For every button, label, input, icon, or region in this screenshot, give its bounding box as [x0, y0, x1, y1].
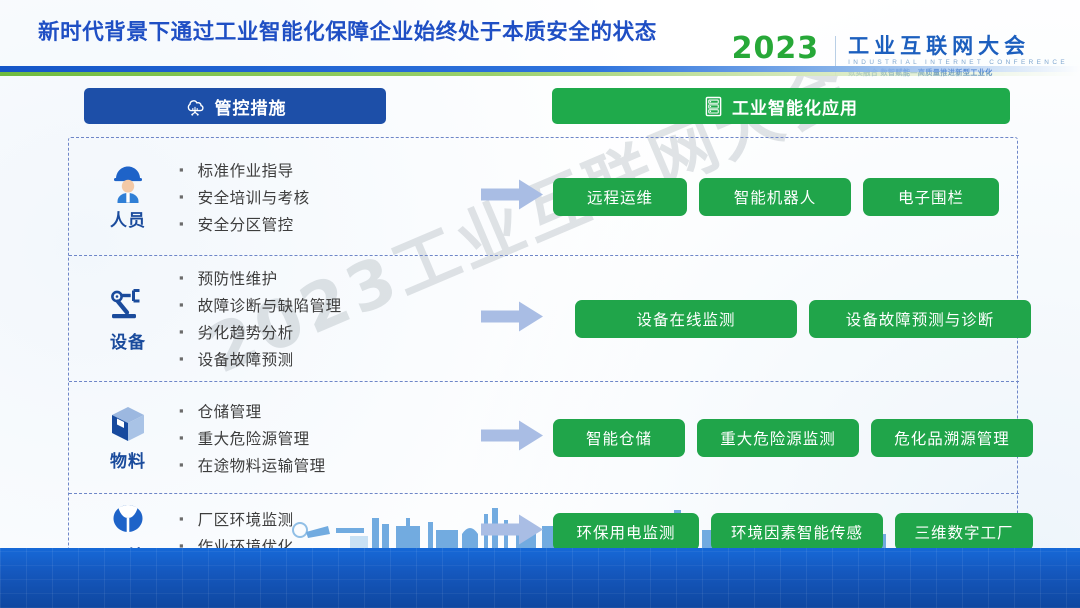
column-header-control-measures[interactable]: 管控措施 [84, 88, 386, 124]
box-package-icon [105, 403, 151, 445]
bullet-dot-icon: ▪ [179, 190, 184, 203]
bullet-dot-icon: ▪ [179, 271, 184, 284]
list-item: ▪故障诊断与缺陷管理 [179, 294, 342, 316]
category-cell-equipment: 设备 [87, 256, 169, 381]
bullet-text: 重大危险源管理 [198, 427, 310, 449]
list-item: ▪标准作业指导 [179, 159, 310, 181]
tag-group-personnel: 远程运维 智能机器人 电子围栏 [553, 178, 999, 216]
category-cell-personnel: 人员 [87, 138, 169, 255]
logo-year: 2023 [732, 34, 820, 64]
table-row: 人员 ▪标准作业指导 ▪安全培训与考核 ▪安全分区管控 远程运维 智能机器人 电… [69, 138, 1019, 256]
list-item: ▪在途物料运输管理 [179, 454, 326, 476]
bullet-list-material: ▪仓储管理 ▪重大危险源管理 ▪在途物料运输管理 [179, 382, 326, 493]
bullet-text: 设备故障预测 [198, 348, 294, 370]
tag-group-equipment: 设备在线监测 设备故障预测与诊断 [575, 300, 1031, 338]
list-item: ▪重大危险源管理 [179, 427, 326, 449]
bottom-blue-band [0, 548, 1080, 608]
tag-button[interactable]: 设备故障预测与诊断 [809, 300, 1031, 338]
bullet-dot-icon: ▪ [179, 512, 184, 525]
table-row: 设备 ▪预防性维护 ▪故障诊断与缺陷管理 ▪劣化趋势分析 ▪设备故障预测 设备在… [69, 256, 1019, 382]
worker-helmet-icon [105, 162, 151, 204]
tag-button[interactable]: 智能机器人 [699, 178, 851, 216]
category-label: 物料 [110, 447, 146, 472]
tag-button[interactable]: 远程运维 [553, 178, 687, 216]
bullet-text: 故障诊断与缺陷管理 [198, 294, 342, 316]
bullet-dot-icon: ▪ [179, 404, 184, 417]
tag-button[interactable]: 危化品溯源管理 [871, 419, 1033, 457]
tag-group-environment: 环保用电监测 环境因素智能传感 三维数字工厂 [553, 513, 1033, 551]
list-item: ▪安全分区管控 [179, 213, 310, 235]
list-item: ▪厂区环境监测 [179, 508, 294, 530]
bullet-text: 在途物料运输管理 [198, 454, 326, 476]
logo-title-en: INDUSTRIAL INTERNET CONFERENCE [848, 59, 1068, 66]
robot-arm-icon [105, 284, 151, 326]
capability-matrix: 人员 ▪标准作业指导 ▪安全培训与考核 ▪安全分区管控 远程运维 智能机器人 电… [68, 137, 1018, 569]
column-header-industrial-intelligence[interactable]: 工业智能化应用 [552, 88, 1010, 124]
leaf-shield-icon [105, 498, 151, 540]
bullet-dot-icon: ▪ [179, 217, 184, 230]
bullet-dot-icon: ▪ [179, 431, 184, 444]
tag-group-material: 智能仓储 重大危险源监测 危化品溯源管理 [553, 419, 1033, 457]
bullet-dot-icon: ▪ [179, 298, 184, 311]
bullet-dot-icon: ▪ [179, 325, 184, 338]
tag-button[interactable]: 环境因素智能传感 [711, 513, 883, 551]
list-item: ▪设备故障预测 [179, 348, 342, 370]
bullet-text: 预防性维护 [198, 267, 278, 289]
bullet-dot-icon: ▪ [179, 163, 184, 176]
cloud-circuit-icon [184, 96, 206, 116]
column-header-left-label: 管控措施 [215, 94, 287, 119]
server-rack-icon [704, 96, 723, 117]
bullet-list-equipment: ▪预防性维护 ▪故障诊断与缺陷管理 ▪劣化趋势分析 ▪设备故障预测 [179, 256, 342, 381]
bullet-list-personnel: ▪标准作业指导 ▪安全培训与考核 ▪安全分区管控 [179, 138, 310, 255]
bullet-dot-icon: ▪ [179, 458, 184, 471]
bullet-text: 标准作业指导 [198, 159, 294, 181]
list-item: ▪劣化趋势分析 [179, 321, 342, 343]
list-item: ▪仓储管理 [179, 400, 326, 422]
category-label: 人员 [110, 206, 146, 231]
tag-button[interactable]: 环保用电监测 [553, 513, 699, 551]
bullet-text: 安全培训与考核 [198, 186, 310, 208]
right-arrow-icon [481, 513, 543, 552]
bullet-text: 安全分区管控 [198, 213, 294, 235]
tag-button[interactable]: 设备在线监测 [575, 300, 797, 338]
bullet-dot-icon: ▪ [179, 352, 184, 365]
table-row: 物料 ▪仓储管理 ▪重大危险源管理 ▪在途物料运输管理 智能仓储 重大危险源监测… [69, 382, 1019, 494]
right-arrow-icon [481, 177, 543, 216]
list-item: ▪安全培训与考核 [179, 186, 310, 208]
bullet-text: 仓储管理 [198, 400, 262, 422]
logo-title-cn: 工业互联网大会 [848, 35, 1068, 57]
tag-button[interactable]: 重大危险源监测 [697, 419, 859, 457]
header-divider-green [0, 72, 1080, 76]
page-title: 新时代背景下通过工业智能化保障企业始终处于本质安全的状态 [38, 15, 657, 46]
category-cell-material: 物料 [87, 382, 169, 493]
tag-button[interactable]: 三维数字工厂 [895, 513, 1033, 551]
right-arrow-icon [481, 299, 543, 338]
bullet-text: 劣化趋势分析 [198, 321, 294, 343]
tag-button[interactable]: 电子围栏 [863, 178, 999, 216]
bullet-text: 厂区环境监测 [198, 508, 294, 530]
list-item: ▪预防性维护 [179, 267, 342, 289]
right-arrow-icon [481, 418, 543, 457]
category-label: 设备 [110, 328, 146, 353]
column-header-right-label: 工业智能化应用 [732, 94, 858, 119]
tag-button[interactable]: 智能仓储 [553, 419, 685, 457]
